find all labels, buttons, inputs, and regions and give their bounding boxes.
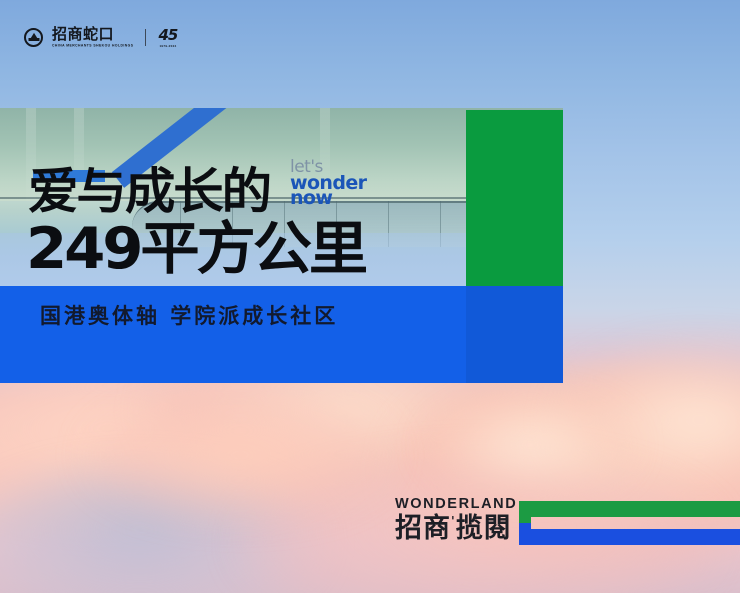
accent-bar-blue xyxy=(530,529,740,545)
project-name-en: WONDERLAND xyxy=(395,497,517,512)
project-brand-logo[interactable]: WONDERLAND 招商'揽閱 xyxy=(395,497,517,542)
developer-logo-text: 招商蛇口 CHINA MERCHANTS SHEKOU HOLDINGS xyxy=(52,27,133,48)
project-name-cn-part2: 揽閱 xyxy=(456,513,512,544)
developer-name-en: CHINA MERCHANTS SHEKOU HOLDINGS xyxy=(52,44,133,48)
china-merchants-emblem-icon xyxy=(24,28,43,47)
green-accent-block xyxy=(466,110,563,286)
headline-line-2: 249平方公里 xyxy=(26,222,365,276)
project-name-cn-part1: 招商 xyxy=(395,513,451,544)
headline-line-1-wrap: 爱与成长的 xyxy=(28,168,263,215)
blue-accent-block-dark xyxy=(466,286,563,383)
brand-accent-bars xyxy=(519,501,740,545)
developer-name-cn: 招商蛇口 xyxy=(52,27,133,42)
cloud-shape xyxy=(430,400,630,490)
poster-root: 招商蛇口 CHINA MERCHANTS SHEKOU HOLDINGS 45 … xyxy=(0,0,740,593)
headline-line-1: 爱与成长的 xyxy=(28,168,270,215)
header: 招商蛇口 CHINA MERCHANTS SHEKOU HOLDINGS 45 … xyxy=(0,0,740,78)
logo-divider xyxy=(145,29,146,46)
accent-bar-green xyxy=(530,501,740,517)
cloud-shape xyxy=(90,395,390,515)
project-name-cn: 招商'揽閱 xyxy=(395,515,517,542)
anniversary-number: 45 xyxy=(158,26,177,44)
project-brand-text: WONDERLAND 招商'揽閱 xyxy=(395,497,517,542)
developer-logo[interactable]: 招商蛇口 CHINA MERCHANTS SHEKOU HOLDINGS 45 … xyxy=(24,26,188,48)
hero-subtitle: 国港奥体轴 学院派成长社区 xyxy=(40,300,338,330)
english-tagline: let's wonder now xyxy=(290,159,366,207)
anniversary-badge: 45 1979-2024 xyxy=(158,26,188,48)
anniversary-years: 1979-2024 xyxy=(159,44,176,48)
